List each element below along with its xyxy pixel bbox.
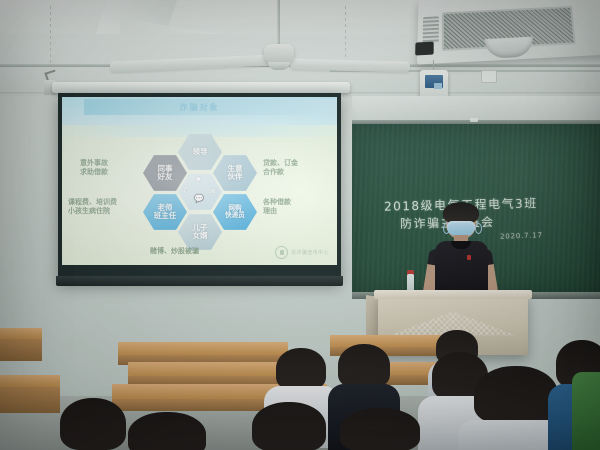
desk-left-far-side <box>0 339 42 361</box>
podium-top-surface <box>374 290 532 299</box>
mail-icon: ✉ <box>209 188 216 196</box>
projection-screen-roller[interactable] <box>52 82 350 93</box>
student-head <box>276 348 326 390</box>
hex-colleague-friend: 同事 好友 <box>143 154 187 192</box>
hex-center-icons: ⚫ ✆ ✉ 💬 <box>178 173 222 211</box>
air-conditioner-unit <box>417 0 600 65</box>
student-head <box>60 398 126 450</box>
note-course-fee: 课程费、培训费 小孩生病住院 <box>68 198 117 217</box>
student-head <box>128 412 206 450</box>
qq-penguin-icon: ⚫ <box>195 176 202 184</box>
face-mask-icon <box>447 221 475 236</box>
presenter-torso <box>435 241 488 295</box>
hex-teacher-label: 老师 班主任 <box>154 204 177 220</box>
note-borrow-reasons: 各种借款 理由 <box>263 198 291 217</box>
blackboard-date: 2020.7.17 <box>500 231 543 240</box>
ac-sensor-icon <box>415 42 434 56</box>
thermostat-display-icon <box>434 83 442 89</box>
wall-panel-seam-right <box>345 6 346 64</box>
ac-fan-icon <box>484 37 534 59</box>
contact-icons-group: ⚫ ✆ ✉ 💬 <box>180 175 220 209</box>
hex-colleague-friend-label: 同事 好友 <box>158 165 173 181</box>
hex-business-partner-label: 生意 伙伴 <box>228 165 243 181</box>
note-gambling-stock: 赌博、炒股被骗 <box>150 247 199 256</box>
wall-panel-seam-left <box>50 6 51 64</box>
hex-son-in-law: 儿子 女婿 <box>178 213 222 251</box>
student-head <box>252 402 326 450</box>
slide-canvas: 诈骗对象 领导 同事 好友 生意 伙伴 ⚫ ✆ <box>62 97 337 265</box>
thermostat-screen <box>425 75 443 88</box>
hex-leader-label: 领导 <box>193 148 208 156</box>
hex-business-partner: 生意 伙伴 <box>213 154 257 192</box>
desk-row-back <box>330 335 448 347</box>
phone-icon: ✆ <box>182 187 189 195</box>
student-head <box>338 344 390 388</box>
ac-vent <box>423 16 439 44</box>
desk-left-far-top <box>0 328 42 339</box>
slide-logo: 反诈骗宣传中心 <box>275 246 329 259</box>
hex-leader: 领导 <box>178 133 222 171</box>
hex-courier-label: 网购 快递员 <box>225 205 245 219</box>
mask-loop-right <box>475 223 482 234</box>
shirt-logo-icon <box>467 255 471 260</box>
student-body <box>572 372 600 450</box>
chalk-piece[interactable] <box>470 118 478 122</box>
presenter <box>418 205 504 300</box>
student-head <box>474 366 558 424</box>
hexagon-cluster: 领导 同事 好友 生意 伙伴 ⚫ ✆ ✉ 💬 <box>62 97 337 265</box>
fan-rod <box>277 0 280 48</box>
note-loan-deposit: 贷款、订金 合作款 <box>263 159 298 178</box>
classroom-photo: 2018级电气工程电气3班 防诈骗主题班会 2020.7.17 诈骗对象 领导 … <box>0 0 600 450</box>
logo-shield-icon <box>275 246 288 259</box>
slide-logo-text: 反诈骗宣传中心 <box>291 249 329 256</box>
student-head <box>340 408 420 450</box>
desk-row-3 <box>118 342 288 355</box>
note-accident-loan: 意外事故 求助借款 <box>80 159 108 178</box>
hex-courier: 网购 快递员 <box>213 193 257 231</box>
fan-motor <box>264 44 294 64</box>
projection-screen: 诈骗对象 领导 同事 好友 生意 伙伴 ⚫ ✆ <box>58 93 341 282</box>
desk-left-edge-top <box>0 375 60 387</box>
hex-teacher: 老师 班主任 <box>143 193 187 231</box>
wall-socket[interactable] <box>481 70 497 83</box>
screen-bottom-bar <box>56 276 343 286</box>
desk-left-edge-side <box>0 387 60 413</box>
chat-bubble-icon: 💬 <box>194 195 204 203</box>
hex-son-in-law-label: 儿子 女婿 <box>193 224 208 240</box>
